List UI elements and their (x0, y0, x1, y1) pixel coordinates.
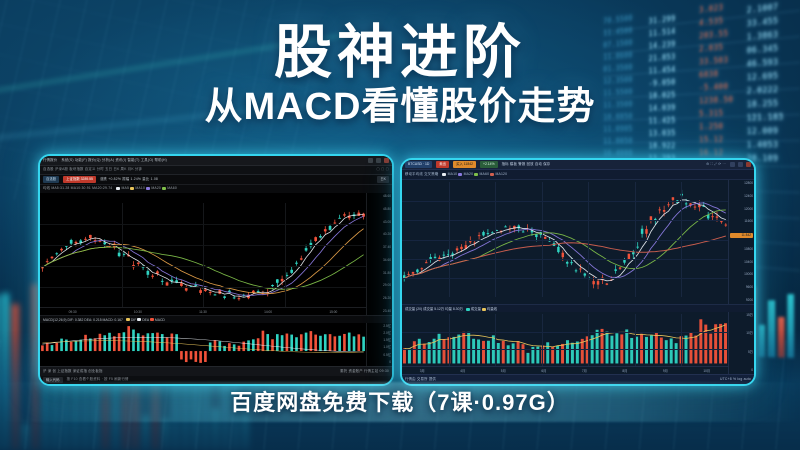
candlestick (584, 273, 586, 278)
axis-tick-label: 10万 (730, 332, 753, 335)
volume-bar (660, 338, 663, 364)
left-menu-items[interactable]: 系统(S) 功能(F) 报价(Q) 分析(A) 资讯(I) 智能(T) 工具(O… (61, 159, 167, 162)
right-price-chart-pane[interactable]: 1280012400120001160011 84210800104001000… (402, 180, 754, 304)
axis-tick-label: 9200 (730, 299, 753, 302)
histogram-bar (228, 343, 231, 351)
volume-bar (546, 342, 549, 363)
histogram-bar (118, 333, 121, 351)
candlestick (407, 272, 409, 276)
candlestick (526, 224, 528, 231)
axis-tick-label: 14:00 (264, 310, 272, 314)
grid-line (542, 314, 543, 367)
candlestick (147, 269, 150, 278)
left-price-axis: 48.6045.8043.0040.2037.4034.6031.8029.00… (366, 193, 392, 315)
minimize-icon[interactable] (730, 162, 735, 167)
candlestick (707, 212, 709, 221)
right-buy-badge[interactable]: 买入 11842 (453, 161, 476, 167)
histogram-bar (362, 337, 365, 351)
histogram-bar (180, 351, 183, 359)
right-volume-legend: 成交量 均量线 (466, 306, 497, 311)
histogram-bar (190, 351, 193, 359)
histogram-bar (319, 336, 322, 351)
histogram-bar (147, 333, 150, 351)
volume-bar (630, 338, 633, 364)
axis-tick-label: 37.40 (368, 246, 391, 249)
moving-average-line (404, 203, 726, 279)
right-window-controls[interactable] (730, 162, 751, 167)
left-period-button[interactable]: 日K (377, 176, 389, 182)
histogram-bar (123, 332, 126, 351)
axis-tick-label: 15:00 (329, 310, 337, 314)
histogram-bar (194, 351, 197, 362)
axis-tick-label: 0 (730, 369, 753, 372)
trading-chart-window-right[interactable]: BTCUSD · 1D 卖出 买入 11842 +2.14% 指标 模板 警报 … (400, 158, 756, 386)
axis-tick-label: 26.20 (368, 297, 391, 300)
left-window-title: 行情报价 (43, 159, 57, 162)
candlestick (362, 213, 365, 220)
left-macd-pane[interactable]: 2.5亿2.0亿1.5亿1.0亿0.5亿0 (40, 323, 392, 366)
candlestick (156, 270, 159, 276)
axis-tick-label: 10月 (703, 368, 710, 373)
axis-tick-label: 31.80 (368, 272, 391, 275)
page-subtitle: 从MACD看懂股价走势 (0, 87, 800, 129)
candlestick (636, 242, 638, 249)
grid-line (402, 349, 728, 350)
volume-bar (497, 343, 500, 363)
right-change-badge: +2.14% (480, 161, 498, 167)
left-indicator-bar[interactable]: 均线 MA5:31.28 MA10:30.91 MA20:29.74 MA5 M… (40, 185, 392, 193)
volume-bar (606, 332, 609, 364)
left-status-right: 委托 资金账户 行情主站 09:30 (340, 370, 389, 373)
candlestick (151, 274, 154, 279)
volume-bar (482, 341, 485, 364)
axis-tick-label: 11:30 (199, 310, 207, 314)
axis-tick-label: 10000 (730, 273, 753, 276)
volume-bar (665, 340, 668, 363)
candlestick (645, 226, 647, 238)
ma-legend-item: MA5 (116, 186, 130, 190)
volume-bar (576, 341, 579, 363)
left-symbol-extra: 涨跌 +0.82% 振幅 1.24% 量比 1.08 (100, 178, 158, 181)
grid-line (449, 314, 450, 367)
volume-bar (507, 345, 510, 363)
candlestick (123, 252, 126, 256)
axis-tick-label: 29.00 (368, 284, 391, 287)
right-toolbar-items[interactable]: 指标 模板 警报 回放 自动 保存 (502, 163, 551, 166)
grid-line (203, 203, 204, 308)
volume-bar (477, 339, 480, 363)
volume-bar (561, 344, 564, 364)
right-legend-title: 移动平均线 交叉策略 (405, 173, 438, 176)
candlestick (338, 215, 341, 219)
axis-tick-label: 09:30 (69, 310, 77, 314)
histogram-bar (199, 351, 202, 363)
candlestick (614, 265, 616, 274)
candlestick (641, 225, 643, 237)
histogram-bar (55, 343, 58, 351)
axis-tick-label: 3月 (420, 368, 425, 373)
histogram-bar (262, 331, 265, 351)
right-volume-pane[interactable]: 15万10万5万0 3月4月5月6月7月8月9月10月 (402, 312, 754, 374)
right-status-left: 行情由 交易所 提供 (405, 378, 436, 381)
left-indicator-legend: DIF DEA MACD (126, 318, 165, 322)
left-price-badge: 上证指数 3289.55 (63, 176, 96, 182)
histogram-bar (353, 336, 356, 351)
right-price-plot[interactable] (402, 182, 728, 297)
right-legend-bar[interactable]: 移动平均线 交叉策略 MA10 MA20 MA60 MA120 (402, 170, 754, 180)
background-quote-value: 1.4053 (747, 140, 784, 150)
histogram-bar (79, 340, 82, 351)
volume-bar (462, 332, 465, 364)
histogram-bar (218, 341, 221, 351)
grid-line (635, 314, 636, 367)
axis-tick-label: 48.60 (368, 195, 391, 198)
candlestick (161, 278, 164, 285)
background-quote-value: 16.12 (699, 149, 733, 159)
volume-bar (655, 333, 658, 364)
candlestick (566, 261, 568, 267)
candlestick (597, 279, 599, 289)
volume-bar (675, 343, 678, 363)
volume-bar (724, 323, 727, 363)
candlestick (262, 291, 265, 295)
axis-tick-label: 2.5亿 (368, 325, 391, 328)
histogram-bar (310, 331, 313, 351)
histogram-bar (60, 339, 63, 351)
histogram-bar (271, 339, 274, 351)
candlestick (478, 232, 480, 239)
histogram-bar (266, 334, 269, 351)
axis-tick-label: 15万 (730, 314, 753, 317)
histogram-bar (305, 333, 308, 351)
candlestick (725, 223, 727, 227)
left-macd-plot[interactable] (40, 325, 366, 359)
grid-line (402, 201, 728, 202)
right-volume-axis: 15万10万5万0 (728, 312, 754, 374)
volume-bar (670, 338, 673, 363)
histogram-bar (290, 335, 293, 351)
histogram-bar (343, 334, 346, 351)
left-price-chart-pane[interactable]: 48.6045.8043.0040.2037.4034.6031.8029.00… (40, 193, 392, 315)
candlestick (619, 267, 621, 270)
histogram-bar (156, 333, 159, 351)
axis-tick-label: 12800 (730, 182, 753, 185)
volume-bar (512, 343, 515, 363)
volume-bar (526, 353, 529, 364)
candlestick (491, 231, 493, 233)
axis-tick-label: 0 (368, 361, 391, 364)
axis-tick-label: 45.80 (368, 208, 391, 211)
volume-bar (601, 329, 604, 364)
candlestick (118, 250, 121, 258)
axis-tick-label: 0.5亿 (368, 354, 391, 357)
histogram-bar (166, 337, 169, 351)
axis-tick-label: 6月 (541, 368, 546, 373)
current-price-badge: 11 842 (730, 233, 753, 238)
histogram-bar (185, 351, 188, 362)
left-price-plot[interactable] (40, 203, 366, 308)
grid-line (402, 332, 728, 333)
candlestick (518, 224, 520, 232)
histogram-bar (276, 334, 279, 351)
left-symbol-badge[interactable]: 自选股 (43, 176, 59, 182)
page-title: 股神进阶 (0, 22, 800, 83)
candlestick (290, 266, 293, 273)
candlestick (180, 280, 183, 286)
histogram-bar (223, 346, 226, 351)
histogram-bar (204, 351, 207, 362)
axis-tick-label: 11600 (730, 220, 753, 223)
histogram-bar (314, 335, 317, 351)
candlestick (504, 225, 506, 227)
axis-tick-label: 9600 (730, 286, 753, 289)
left-menu-bar[interactable]: 行情报价 系统(S) 功能(F) 报价(Q) 分析(A) 资讯(I) 智能(T)… (40, 156, 392, 166)
background-quote-value: 13.035 (649, 129, 676, 139)
volume-bar (428, 342, 431, 363)
left-tab-bar-right: ▢ ▢ ▢ (377, 168, 390, 171)
grid-line (588, 314, 589, 367)
candlestick (575, 269, 577, 273)
candlestick (276, 279, 279, 287)
grid-line (40, 266, 366, 267)
background-quote-value: 16.4000 (603, 149, 632, 158)
axis-tick-label: 9月 (663, 368, 668, 373)
histogram-bar (127, 326, 130, 351)
grid-line (40, 224, 366, 225)
axis-tick-label: 34.60 (368, 259, 391, 262)
histogram-bar (324, 334, 327, 351)
right-symbol-badge[interactable]: BTCUSD · 1D (405, 161, 432, 167)
volume-bar (408, 349, 411, 364)
histogram-bar (132, 330, 135, 352)
histogram-bar (137, 333, 140, 351)
grid-line (40, 287, 366, 288)
right-ma-legend: MA10 MA20 MA60 MA120 (442, 173, 507, 177)
volume-bar (502, 341, 505, 364)
left-status-bar[interactable]: 沪 深 创 上证指数 深证成指 创业板指 委托 资金账户 行情主站 09:30 (40, 366, 392, 376)
ma-legend-item: MA10 (130, 186, 146, 190)
candlestick (425, 260, 427, 263)
left-volume-axis: 2.5亿2.0亿1.5亿1.0亿0.5亿0 (366, 323, 392, 366)
right-volume-header: 成交量 (20) 成交量 5.12万 均量 8.30万 成交量 均量线 (402, 304, 754, 312)
left-symbol-bar[interactable]: 自选股 上证指数 3289.55 涨跌 +0.82% 振幅 1.24% 量比 1… (40, 175, 392, 185)
left-ma-title: 均线 MA5:31.28 MA10:30.91 MA20:29.74 (43, 187, 112, 190)
ma-legend-item: MA120 (490, 172, 507, 176)
volume-bar (571, 343, 574, 364)
indicator-legend-item: DIF (126, 318, 137, 322)
axis-tick-label: 40.20 (368, 233, 391, 236)
candlestick (286, 272, 289, 277)
histogram-bar (94, 338, 97, 351)
histogram-bar (113, 336, 116, 351)
histogram-bar (209, 342, 212, 351)
candlestick (434, 254, 436, 259)
left-tab-bar[interactable]: 自选股 沪深A股 板块指数 自定义 分时 五日 日K 周K 月K 分钟 ▢ ▢ … (40, 166, 392, 175)
histogram-bar (329, 334, 332, 351)
candlestick (487, 229, 489, 236)
histogram-bar (175, 334, 178, 351)
ma-legend-item: MA20 (458, 172, 474, 176)
axis-tick-label: 43.00 (368, 221, 391, 224)
grid-line (402, 220, 728, 221)
histogram-bar (99, 334, 102, 351)
histogram-bar (41, 345, 44, 351)
histogram-bar (295, 337, 298, 351)
candlestick (711, 213, 713, 220)
histogram-bar (334, 336, 337, 351)
histogram-bar (51, 345, 54, 351)
volume-bar (625, 329, 628, 363)
title-block: 股神进阶 从MACD看懂股价走势 (0, 22, 800, 129)
axis-tick-label: 12000 (730, 208, 753, 211)
volume-legend-item: 均量线 (482, 307, 497, 311)
ma-legend-item: MA10 (442, 172, 458, 176)
axis-tick-label: 10:30 (134, 310, 142, 314)
left-time-axis: 09:3010:3011:3014:0015:00 (40, 307, 366, 315)
histogram-bar (75, 341, 78, 351)
close-icon[interactable] (384, 158, 389, 163)
right-volume-title: 成交量 (20) 成交量 5.12万 均量 8.30万 (405, 306, 463, 311)
volume-legend-item: 成交量 (466, 307, 482, 311)
candlestick (295, 261, 298, 266)
candlestick (55, 252, 58, 255)
candlestick (658, 207, 660, 214)
histogram-bar (357, 334, 360, 351)
histogram-bar (281, 335, 284, 351)
axis-tick-label: 1.0亿 (368, 346, 391, 349)
right-volume-plot[interactable] (402, 314, 728, 367)
candlestick (324, 226, 327, 234)
volume-bar (596, 330, 599, 364)
histogram-bar (89, 338, 92, 351)
candlestick (416, 269, 418, 274)
right-status-right: UTC+8 % log auto (720, 378, 751, 381)
axis-tick-label: 10400 (730, 261, 753, 264)
axis-tick-label: 7月 (582, 368, 587, 373)
candlestick (319, 234, 322, 238)
histogram-bar (214, 340, 217, 351)
grid-line (681, 314, 682, 367)
ma-legend-item: MA60 (474, 172, 490, 176)
left-indicator-title: MACD(12,26,9) DIF: 0.382 DEA: 0.215 MACD… (43, 318, 123, 322)
histogram-bar (108, 333, 111, 351)
left-tab-items[interactable]: 自选股 沪深A股 板块指数 自定义 分时 五日 日K 周K 月K 分钟 (43, 168, 142, 171)
volume-bar (413, 341, 416, 363)
axis-tick-label: 2.0亿 (368, 332, 391, 335)
grid-line (495, 314, 496, 367)
left-status-left: 沪 深 创 上证指数 深证成指 创业板指 (43, 370, 103, 373)
candlestick (314, 237, 317, 243)
histogram-bar (247, 340, 250, 351)
axis-tick-label: 10800 (730, 248, 753, 251)
right-toolbar[interactable]: BTCUSD · 1D 卖出 买入 11842 +2.14% 指标 模板 警报 … (402, 160, 754, 170)
right-price-axis: 1280012400120001160011 84210800104001000… (728, 180, 754, 304)
candlestick (403, 272, 405, 282)
volume-bar (699, 319, 702, 363)
candlestick (606, 283, 608, 285)
volume-bar (403, 348, 406, 363)
volume-bar (472, 339, 475, 364)
volume-bar (517, 341, 520, 363)
volume-bar (714, 324, 717, 363)
candlestick (51, 256, 54, 259)
axis-tick-label: 8月 (622, 368, 627, 373)
indicator-legend-item: DEA (137, 318, 150, 322)
right-toolbar-icons[interactable]: ⚙ ⛶ ⤢ ⟳ ⋯ (706, 163, 726, 166)
close-icon[interactable] (746, 162, 751, 167)
axis-tick-label: 5万 (730, 351, 753, 354)
histogram-bar (348, 333, 351, 351)
axis-tick-label: 5月 (501, 368, 506, 373)
candlestick (214, 294, 217, 296)
grid-line (40, 245, 366, 246)
candlestick (300, 256, 303, 261)
axis-tick-label: 1.5亿 (368, 339, 391, 342)
volume-bar (443, 339, 446, 363)
indicator-legend-item: MACD (150, 318, 165, 322)
histogram-bar (171, 334, 174, 352)
candlestick (199, 288, 202, 295)
stock-terminal-window-left[interactable]: 行情报价 系统(S) 功能(F) 报价(Q) 分析(A) 资讯(I) 智能(T)… (38, 154, 394, 386)
candlestick (223, 296, 226, 300)
volume-bar (719, 324, 722, 364)
maximize-icon[interactable] (738, 162, 743, 167)
footer-text: 百度网盘免费下载（7课·0.97G） (0, 385, 800, 417)
axis-tick-label: 23.40 (368, 310, 391, 313)
left-indicator-header: MACD(12,26,9) DIF: 0.382 DEA: 0.215 MACD… (40, 315, 392, 323)
histogram-bar (70, 342, 73, 351)
left-ma-legend: MA5 MA10 MA20 MA60 (116, 187, 177, 191)
volume-bar (418, 339, 421, 364)
ma-legend-item: MA60 (162, 186, 177, 190)
histogram-bar (286, 334, 289, 352)
candlestick (166, 282, 169, 286)
axis-tick-label: 12400 (730, 195, 753, 198)
histogram-bar (84, 335, 87, 351)
volume-bar (423, 344, 426, 364)
candlestick (412, 272, 414, 277)
candlestick (46, 259, 49, 264)
volume-bar (467, 332, 470, 364)
candlestick (522, 230, 524, 233)
minimize-icon[interactable] (368, 158, 373, 163)
maximize-icon[interactable] (376, 158, 381, 163)
background-quote-value: 18.922 (649, 142, 676, 151)
histogram-bar (142, 335, 145, 351)
candlestick (482, 231, 484, 237)
candlestick (456, 246, 458, 253)
grid-line (285, 203, 286, 308)
histogram-bar (103, 335, 106, 351)
candlestick (343, 212, 346, 217)
grid-line (402, 240, 728, 241)
histogram-bar (338, 336, 341, 351)
volume-bar (522, 344, 525, 363)
right-sell-badge[interactable]: 卖出 (436, 161, 449, 167)
volume-bar (487, 341, 490, 364)
right-time-axis: 3月4月5月6月7月8月9月10月 (402, 366, 728, 374)
left-window-controls[interactable] (368, 158, 389, 163)
grid-line (402, 259, 728, 260)
grid-line (122, 203, 123, 308)
axis-tick-label: 4月 (460, 368, 465, 373)
grid-line (402, 278, 728, 279)
ma-legend-item: MA20 (146, 186, 162, 190)
candlestick (60, 248, 63, 252)
